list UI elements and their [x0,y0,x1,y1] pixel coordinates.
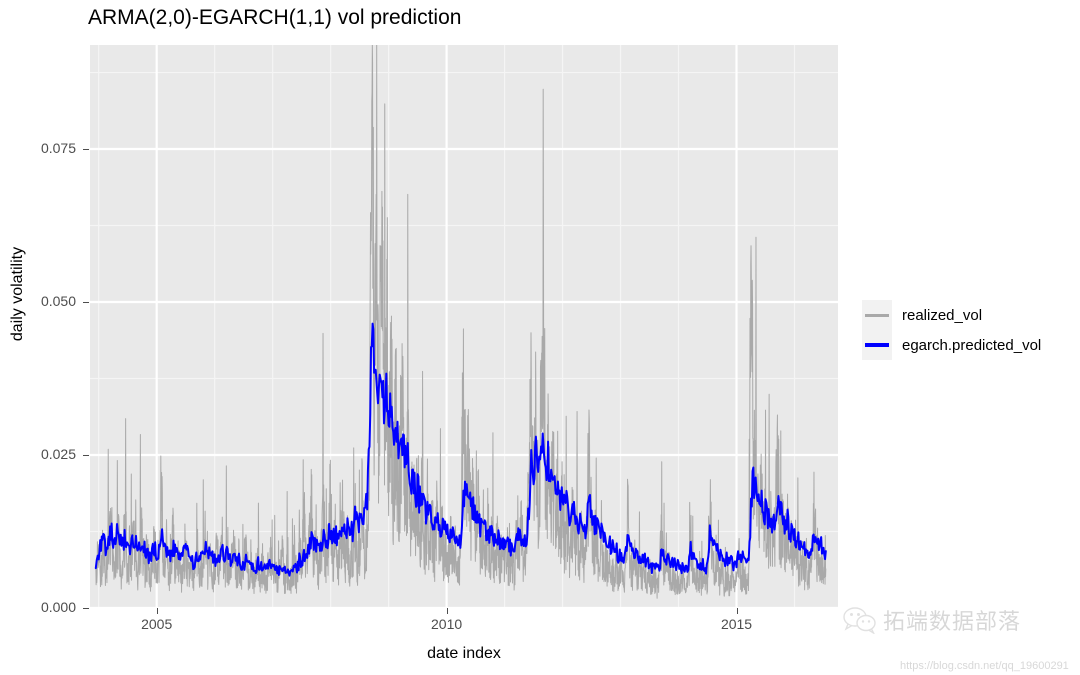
y-tick-label: 0.050 [0,293,76,309]
legend: realized_vol egarch.predicted_vol [862,300,1041,360]
x-tick-mark [447,608,448,614]
x-tick-mark [157,608,158,614]
x-tick-label: 2010 [417,616,477,632]
y-tick-label: 0.025 [0,446,76,462]
legend-label-realized-vol: realized_vol [902,307,982,324]
wechat-icon [843,606,877,634]
page-title: ARMA(2,0)-EGARCH(1,1) vol prediction [88,6,461,30]
plot-svg [90,45,838,608]
chart-root: ARMA(2,0)-EGARCH(1,1) vol prediction dai… [0,0,1080,675]
y-tick-mark [83,149,89,150]
legend-key-egarch-predicted-vol [862,330,892,360]
legend-item-egarch-predicted-vol[interactable]: egarch.predicted_vol [862,330,1041,360]
y-tick-mark [83,608,89,609]
x-tick-label: 2015 [707,616,767,632]
legend-label-egarch-predicted-vol: egarch.predicted_vol [902,337,1041,354]
x-tick-label: 2005 [127,616,187,632]
watermark-url: https://blog.csdn.net/qq_19600291 [900,660,1069,672]
y-tick-mark [83,455,89,456]
legend-swatch-realized-vol [865,314,889,317]
x-tick-mark [737,608,738,614]
x-axis-title: date index [90,645,838,663]
plot-panel [90,45,838,608]
watermark-brand: 拓端数据部落 [883,604,1021,636]
y-tick-mark [83,302,89,303]
legend-key-realized-vol [862,300,892,330]
y-tick-label: 0.075 [0,140,76,156]
legend-swatch-egarch-predicted-vol [865,343,889,347]
legend-item-realized-vol[interactable]: realized_vol [862,300,1041,330]
series-line-realized_vol [96,45,826,598]
y-tick-label: 0.000 [0,599,76,615]
watermark: 拓端数据部落 [843,604,1021,636]
